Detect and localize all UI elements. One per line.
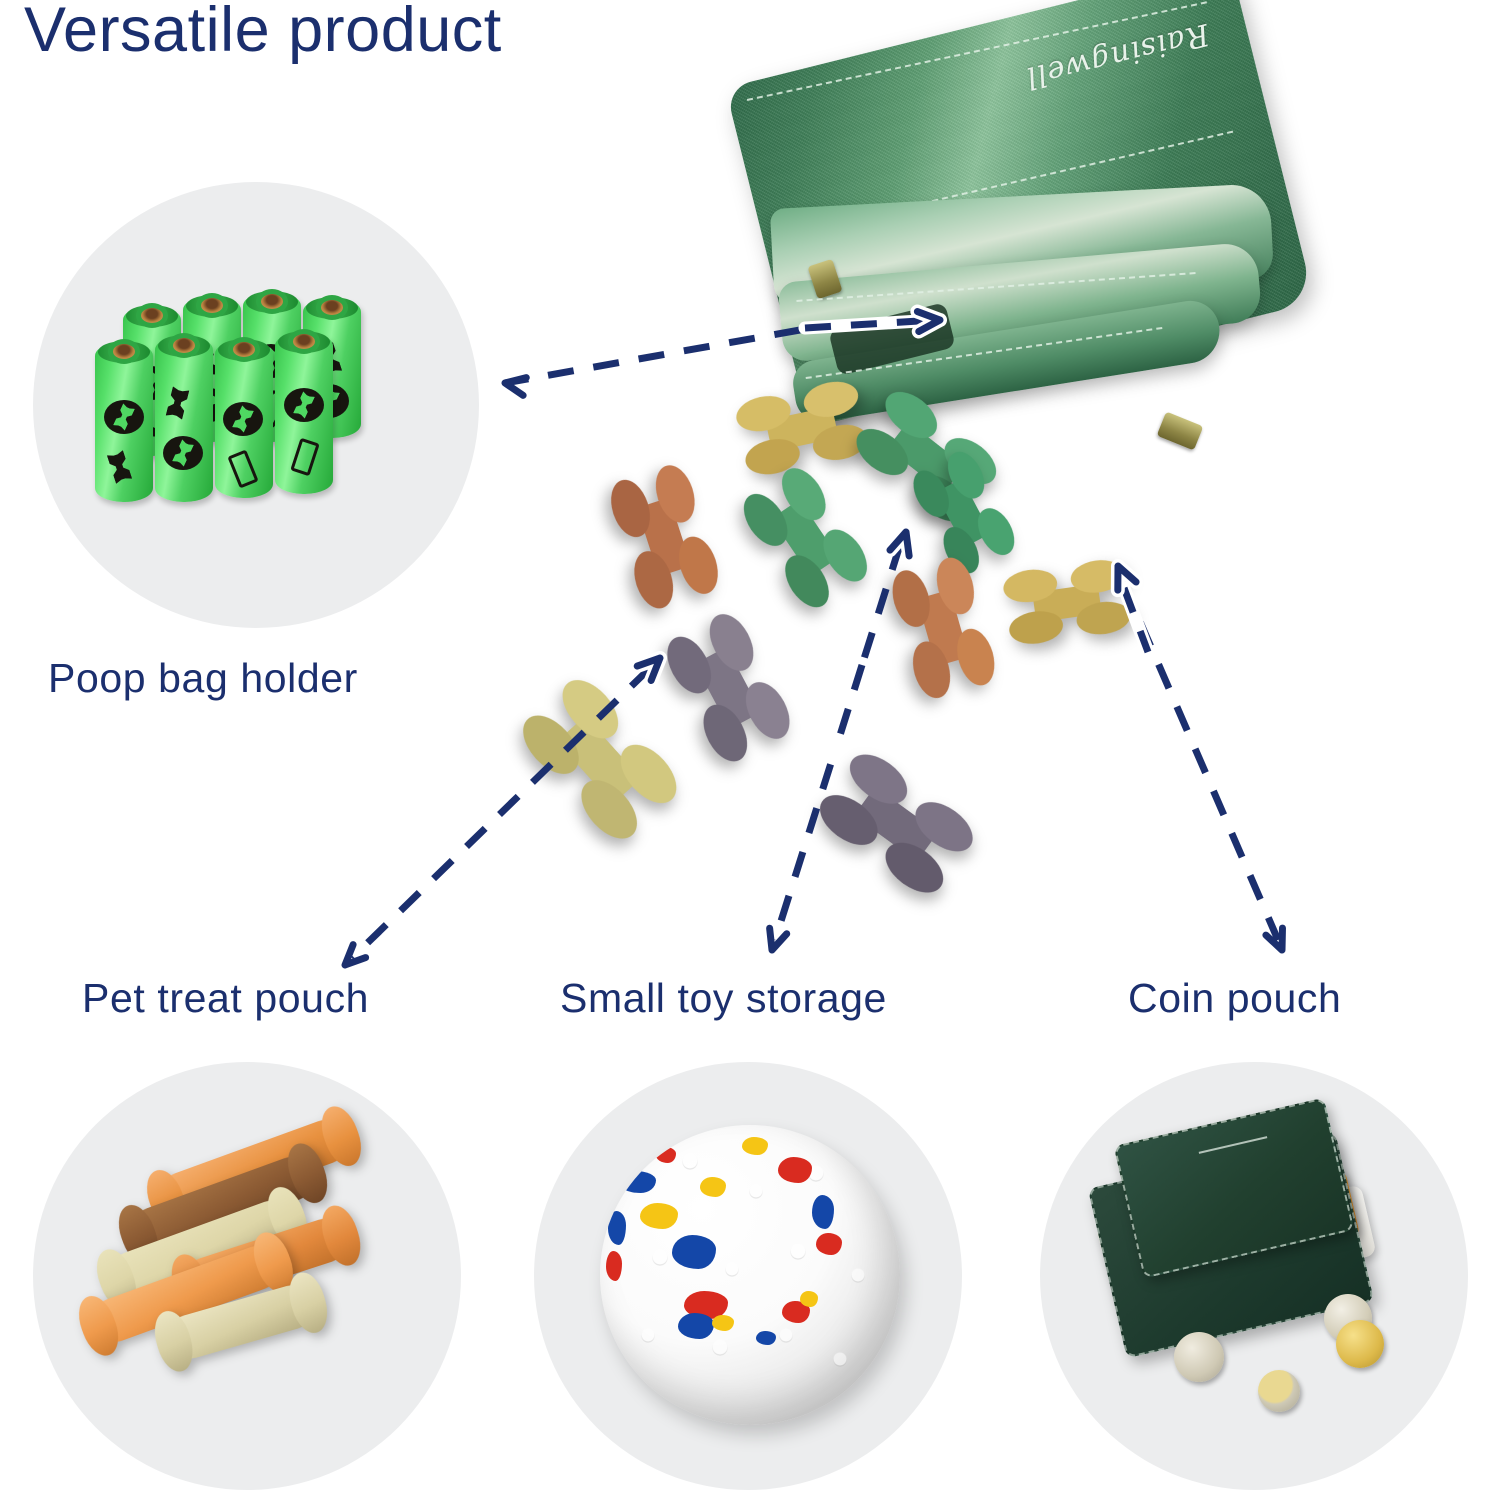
coin-bimetal xyxy=(1258,1370,1300,1412)
toy-ball-image xyxy=(600,1125,900,1425)
photo-circle-rawhide-bones xyxy=(33,1062,461,1490)
caption-poop-bag-holder: Poop bag holder xyxy=(48,655,358,702)
poop-bag-rolls-image xyxy=(83,290,433,520)
photo-circle-poop-bags xyxy=(33,182,479,628)
caption-pet-treat-pouch: Pet treat pouch xyxy=(82,975,369,1022)
caption-small-toy-storage: Small toy storage xyxy=(560,975,887,1022)
infographic-canvas: Versatile product xyxy=(0,0,1493,1500)
coin-gold xyxy=(1336,1320,1384,1368)
page-title: Versatile product xyxy=(24,0,502,65)
caption-coin-pouch: Coin pouch xyxy=(1128,975,1341,1022)
pouch-clasp-right xyxy=(1157,411,1204,450)
photo-circle-wallet-coins xyxy=(1040,1062,1468,1490)
photo-circle-toy-ball xyxy=(534,1062,962,1490)
treat-yellow-1 xyxy=(516,675,682,845)
rawhide-bones-image xyxy=(70,1130,420,1420)
coin-silver-left xyxy=(1174,1332,1224,1382)
wallet-coins-image xyxy=(1086,1098,1416,1428)
treat-purple-2 xyxy=(815,749,978,899)
